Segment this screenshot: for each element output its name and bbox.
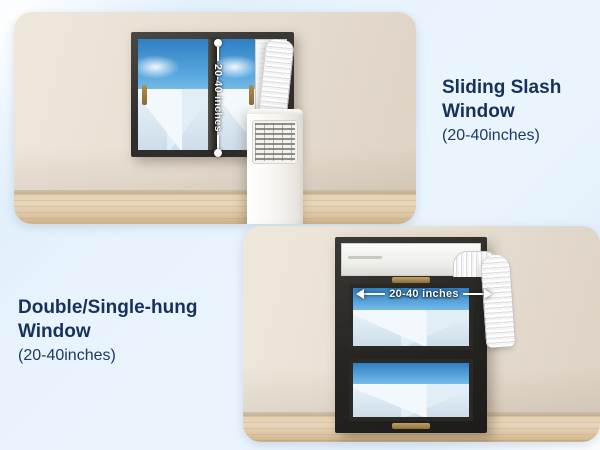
exhaust-hose <box>480 254 516 348</box>
caption-sliding-window: Sliding Slash Window (20-40inches) <box>442 76 561 146</box>
caption-line-2: Window <box>18 320 197 344</box>
window-handle-right <box>249 85 254 105</box>
caption-hung-window: Double/Single-hung Window (20-40inches) <box>18 296 197 366</box>
measurement-horizontal: 20-40 inches <box>356 288 492 300</box>
scene-hung-window <box>243 226 600 442</box>
caption-subtitle: (20-40inches) <box>18 346 197 367</box>
scene-sliding-window: 20-40 inches <box>14 12 416 224</box>
measure-bar-right <box>463 293 484 295</box>
caption-line-2: Window <box>442 100 561 124</box>
measurement-vertical: 20-40 inches <box>212 39 224 157</box>
window-sash-lower <box>349 359 473 421</box>
mountain-view-icon <box>349 384 473 417</box>
measure-arrow-right-icon <box>484 289 492 299</box>
window-lock-lower <box>392 423 430 429</box>
caption-subtitle: (20-40inches) <box>442 126 561 147</box>
ac-vent-grille-icon <box>252 120 298 164</box>
mountain-view-icon <box>138 89 208 150</box>
measure-arrow-left-icon <box>356 289 364 299</box>
portable-air-conditioner <box>247 109 303 224</box>
measurement-label: 20-40 inches <box>385 288 463 300</box>
measure-bar-upper <box>217 47 219 61</box>
mountain-view-icon <box>349 310 473 346</box>
caption-line-1: Double/Single-hung <box>18 296 197 320</box>
measure-bar-left <box>364 293 385 295</box>
measurement-label: 20-40 inches <box>212 61 224 135</box>
measure-cap-bottom <box>214 149 222 157</box>
measure-cap-top <box>214 39 222 47</box>
ac-top-cover <box>247 109 303 114</box>
window-lock-upper <box>392 277 430 283</box>
window-handle-left <box>142 85 147 105</box>
window-pane-left <box>138 39 208 150</box>
wood-floor <box>14 194 416 224</box>
caption-line-1: Sliding Slash <box>442 76 561 100</box>
double-hung-window <box>335 237 487 433</box>
measure-bar-lower <box>217 135 219 149</box>
